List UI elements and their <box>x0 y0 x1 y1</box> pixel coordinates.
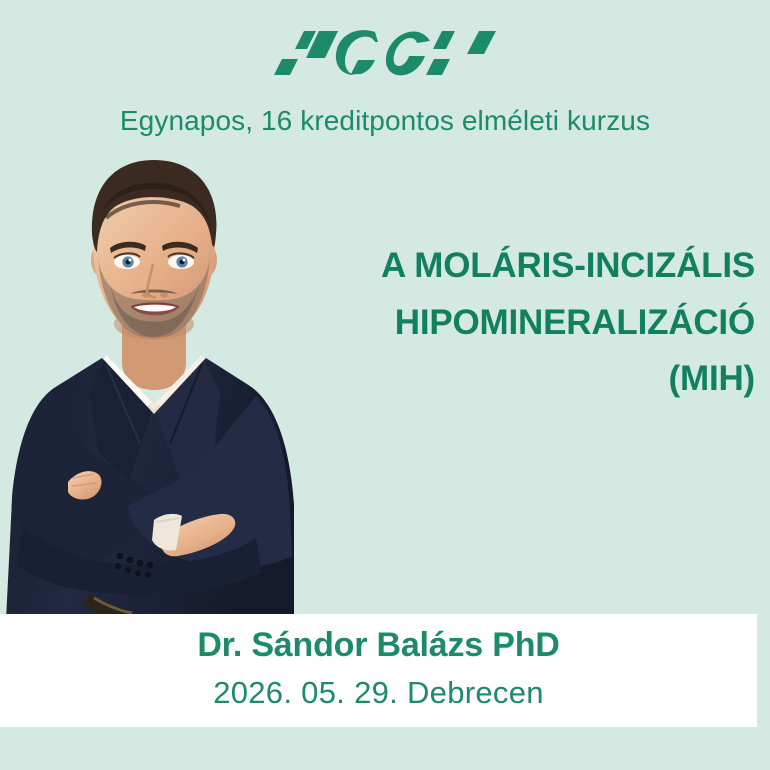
presenter-name: Dr. Sándor Balázs PhD <box>0 626 757 665</box>
course-title-line-3: (MIH) <box>275 351 755 408</box>
course-announcement-poster: Egynapos, 16 kreditpontos elméleti kurzu… <box>0 0 770 770</box>
course-title-line-2: HIPOMINERALIZÁCIÓ <box>275 295 755 352</box>
footer-band: Dr. Sándor Balázs PhD 2026. 05. 29. Debr… <box>0 614 757 727</box>
course-title-line-1: A MOLÁRIS-INCIZÁLIS <box>275 238 755 295</box>
course-subtitle: Egynapos, 16 kreditpontos elméleti kurzu… <box>0 103 770 139</box>
course-title: A MOLÁRIS-INCIZÁLIS HIPOMINERALIZÁCIÓ (M… <box>275 238 755 408</box>
gc-logo <box>0 22 770 84</box>
event-date-location: 2026. 05. 29. Debrecen <box>0 675 757 711</box>
